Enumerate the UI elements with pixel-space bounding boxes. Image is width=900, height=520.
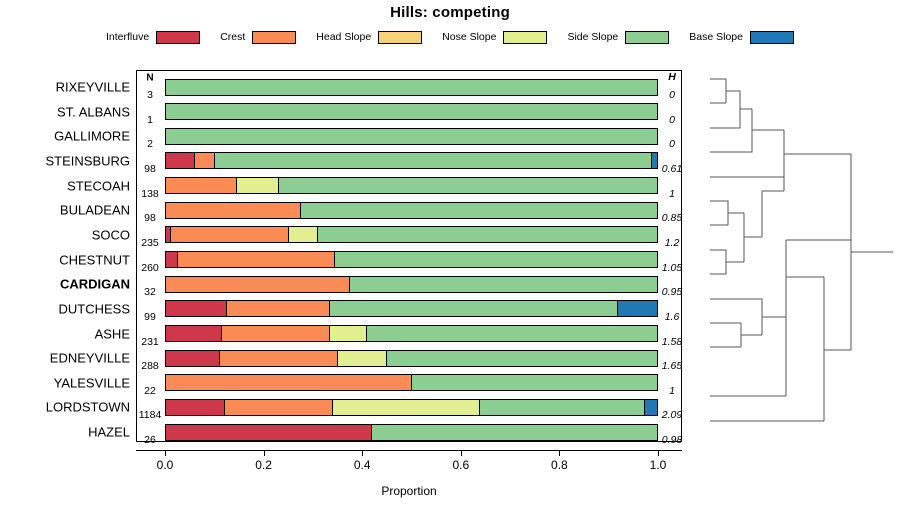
x-axis-line <box>136 450 682 451</box>
bar-segment-interfluve[interactable] <box>166 252 178 267</box>
n-value: 22 <box>144 385 156 397</box>
h-value: 1 <box>669 385 675 397</box>
n-value: 260 <box>141 262 159 274</box>
bar-segment-side-slope[interactable] <box>412 375 658 390</box>
bar-segment-crest[interactable] <box>166 178 237 193</box>
h-value: 0.95 <box>662 286 682 298</box>
bar-segment-side-slope[interactable] <box>215 153 652 168</box>
h-value: 1.65 <box>662 360 682 372</box>
legend-item-crest[interactable]: Crest <box>220 31 296 44</box>
h-value: 1.58 <box>662 336 682 348</box>
legend-swatch <box>625 31 669 44</box>
bar-segment-crest[interactable] <box>195 153 215 168</box>
x-axis-tick <box>658 450 659 456</box>
bar-segment-crest[interactable] <box>227 301 330 316</box>
n-value: 99 <box>144 311 156 323</box>
bar-segment-interfluve[interactable] <box>166 153 195 168</box>
n-column-header: N <box>146 73 153 84</box>
x-axis-tick <box>264 450 265 456</box>
h-value: 1 <box>669 188 675 200</box>
bar-segment-interfluve[interactable] <box>166 351 220 366</box>
bar-row[interactable] <box>165 276 658 293</box>
n-value: 1 <box>147 114 153 126</box>
n-value: 235 <box>141 237 159 249</box>
category-label: CHESTNUT <box>59 252 130 267</box>
chart-title: Hills: competing <box>0 4 900 21</box>
bar-row[interactable] <box>165 300 658 317</box>
legend-swatch <box>750 31 794 44</box>
bar-segment-side-slope[interactable] <box>480 400 644 415</box>
bar-row[interactable] <box>165 226 658 243</box>
category-label: BULADEAN <box>60 203 130 218</box>
n-value: 231 <box>141 336 159 348</box>
bar-row[interactable] <box>165 202 658 219</box>
category-label: CARDIGAN <box>60 277 130 292</box>
category-label: ST. ALBANS <box>57 104 130 119</box>
bar-segment-side-slope[interactable] <box>335 252 657 267</box>
bar-segment-crest[interactable] <box>178 252 335 267</box>
n-value: 26 <box>144 434 156 446</box>
x-axis-tick <box>461 450 462 456</box>
h-value: 2.09 <box>662 409 682 421</box>
legend-swatch <box>156 31 200 44</box>
bar-row[interactable] <box>165 152 658 169</box>
legend-item-interfluve[interactable]: Interfluve <box>106 31 200 44</box>
category-label: ASHE <box>95 326 130 341</box>
bar-row[interactable] <box>165 399 658 416</box>
bar-row[interactable] <box>165 350 658 367</box>
category-label: YALESVILLE <box>54 375 130 390</box>
legend-label: Base Slope <box>689 31 743 43</box>
bar-segment-interfluve[interactable] <box>166 425 372 440</box>
x-axis-tick <box>559 450 560 456</box>
bar-segment-side-slope[interactable] <box>330 301 617 316</box>
legend-label: Side Slope <box>567 31 618 43</box>
bar-segment-interfluve[interactable] <box>166 400 225 415</box>
n-value: 3 <box>147 89 153 101</box>
bar-segment-nose-slope[interactable] <box>333 400 480 415</box>
legend-item-base-slope[interactable]: Base Slope <box>689 31 794 44</box>
bar-segment-base-slope[interactable] <box>652 153 657 168</box>
bar-segment-crest[interactable] <box>225 400 333 415</box>
category-label: LORDSTOWN <box>46 400 130 415</box>
x-axis-tick-label: 1.0 <box>650 458 667 472</box>
x-axis-tick-label: 0.6 <box>452 458 469 472</box>
bar-segment-side-slope[interactable] <box>387 351 657 366</box>
n-value: 32 <box>144 286 156 298</box>
legend-swatch <box>378 31 422 44</box>
h-value: 0.85 <box>662 212 682 224</box>
legend-item-head-slope[interactable]: Head Slope <box>316 31 422 44</box>
legend-swatch <box>503 31 547 44</box>
legend-item-nose-slope[interactable]: Nose Slope <box>442 31 547 44</box>
bar-row[interactable] <box>165 177 658 194</box>
bar-segment-crest[interactable] <box>166 375 412 390</box>
x-axis-tick-label: 0.4 <box>354 458 371 472</box>
bar-segment-interfluve[interactable] <box>166 301 227 316</box>
legend-label: Head Slope <box>316 31 371 43</box>
n-value: 2 <box>147 138 153 150</box>
legend-label: Nose Slope <box>442 31 496 43</box>
bar-segment-nose-slope[interactable] <box>330 326 367 341</box>
bar-segment-base-slope[interactable] <box>618 301 657 316</box>
bar-segment-side-slope[interactable] <box>166 129 657 144</box>
bar-segment-side-slope[interactable] <box>279 178 657 193</box>
bar-segment-side-slope[interactable] <box>372 425 657 440</box>
bar-segment-crest[interactable] <box>166 203 301 218</box>
bar-row[interactable] <box>165 128 658 145</box>
bar-segment-interfluve[interactable] <box>166 326 222 341</box>
h-column-header: H <box>668 71 676 83</box>
bar-segment-side-slope[interactable] <box>166 104 657 119</box>
legend-label: Crest <box>220 31 245 43</box>
h-value: 1.2 <box>665 237 680 249</box>
x-axis-tick-label: 0.2 <box>255 458 272 472</box>
bar-row[interactable] <box>165 325 658 342</box>
category-label: SOCO <box>92 227 130 242</box>
bar-segment-base-slope[interactable] <box>645 400 657 415</box>
category-label: HAZEL <box>88 425 130 440</box>
category-label: GALLIMORE <box>54 129 130 144</box>
legend-item-side-slope[interactable]: Side Slope <box>567 31 669 44</box>
h-value: 1.05 <box>662 262 682 274</box>
h-value: 0 <box>669 138 675 150</box>
n-value: 138 <box>141 188 159 200</box>
x-axis-tick <box>165 450 166 456</box>
bar-row[interactable] <box>165 374 658 391</box>
bar-segment-side-slope[interactable] <box>318 227 657 242</box>
h-value: 0.61 <box>662 163 682 175</box>
bar-row[interactable] <box>165 251 658 268</box>
bar-segment-nose-slope[interactable] <box>237 178 279 193</box>
category-label: EDNEYVILLE <box>50 351 130 366</box>
category-label: DUTCHESS <box>58 301 130 316</box>
x-axis-tick <box>362 450 363 456</box>
h-value: 0 <box>669 89 675 101</box>
bar-segment-nose-slope[interactable] <box>338 351 387 366</box>
h-value: 1.6 <box>665 311 680 323</box>
bar-row[interactable] <box>165 79 658 96</box>
bar-segment-crest[interactable] <box>222 326 330 341</box>
n-value: 98 <box>144 212 156 224</box>
n-value: 288 <box>141 360 159 372</box>
category-label: STEINSBURG <box>45 153 130 168</box>
n-value: 1184 <box>139 409 162 421</box>
category-label: RIXEYVILLE <box>56 80 130 95</box>
x-axis-tick-label: 0.8 <box>551 458 568 472</box>
bar-row[interactable] <box>165 103 658 120</box>
legend-swatch <box>252 31 296 44</box>
bar-row[interactable] <box>165 424 658 441</box>
bar-segment-side-slope[interactable] <box>301 203 657 218</box>
x-axis-title: Proportion <box>136 484 682 498</box>
legend: InterfluveCrestHead SlopeNose SlopeSide … <box>0 27 900 47</box>
dendrogram-svg <box>688 70 900 442</box>
bar-segment-crest[interactable] <box>166 277 350 292</box>
h-value: 0.98 <box>662 434 682 446</box>
bar-segment-side-slope[interactable] <box>350 277 657 292</box>
bar-segment-nose-slope[interactable] <box>289 227 318 242</box>
bar-segment-crest[interactable] <box>220 351 338 366</box>
bar-segment-crest[interactable] <box>171 227 289 242</box>
dendrogram <box>688 70 900 442</box>
h-value: 0 <box>669 114 675 126</box>
n-value: 98 <box>144 163 156 175</box>
x-axis-tick-label: 0.0 <box>157 458 174 472</box>
bar-segment-side-slope[interactable] <box>367 326 657 341</box>
bar-segment-side-slope[interactable] <box>166 80 657 95</box>
category-label: STECOAH <box>67 178 130 193</box>
legend-label: Interfluve <box>106 31 149 43</box>
